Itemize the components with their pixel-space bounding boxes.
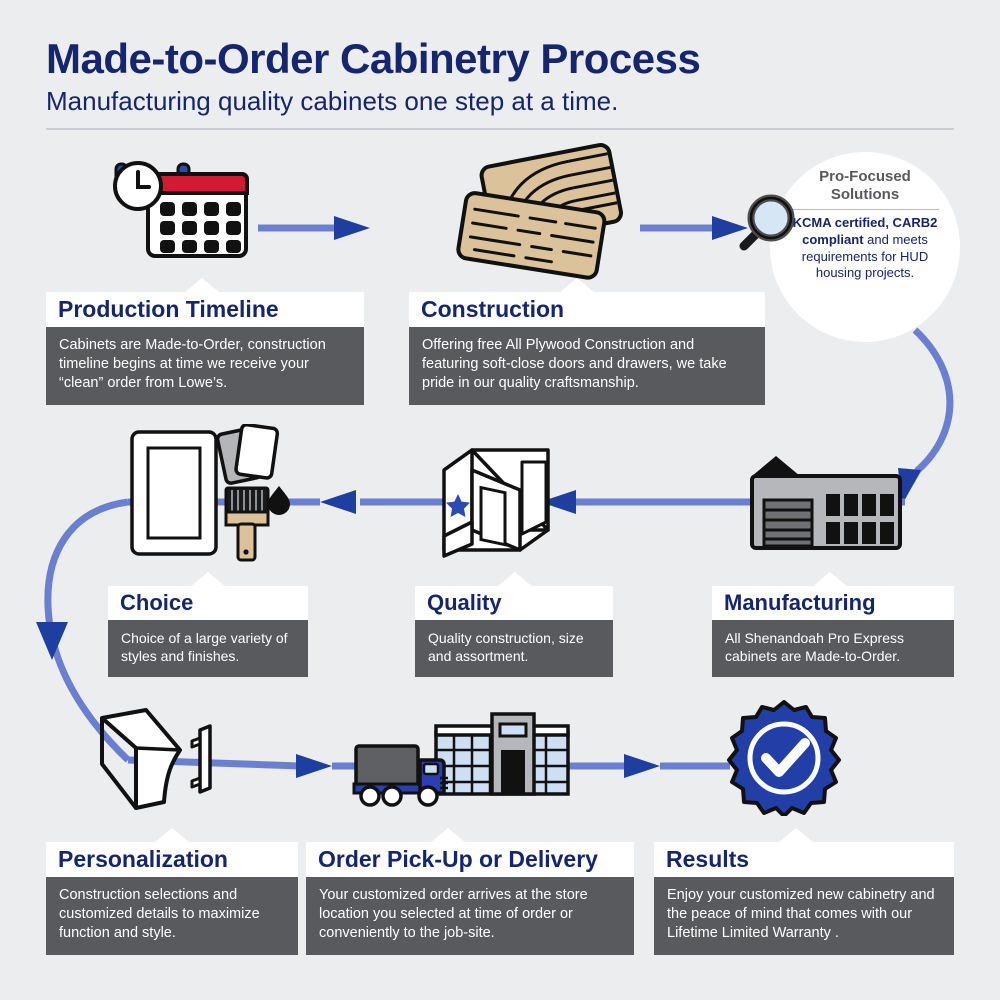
card-title: Construction [409,292,765,327]
badge-text: KCMA certified, CARB2 compliant and meet… [787,215,943,282]
card-title: Results [654,842,954,877]
cabinet-icon [436,444,558,560]
card-title: Personalization [46,842,298,877]
card-notch [154,828,190,843]
badge-divider [791,209,939,210]
card-notch [778,828,814,843]
card-body: Quality construction, size and assortmen… [415,620,613,677]
card-body: Offering free All Plywood Construction a… [409,327,765,405]
card-notch [812,572,848,587]
factory-icon [742,450,922,554]
magnifier-icon [738,190,800,252]
calendar-clock-icon [104,156,264,266]
card-notch [190,572,226,587]
card-body: Choice of a large variety of styles and … [108,620,308,677]
card-title: Order Pick-Up or Delivery [306,842,634,877]
card-construction: Construction Offering free All Plywood C… [409,292,765,405]
card-results: Results Enjoy your customized new cabine… [654,842,954,955]
header: Made-to-Order Cabinetry Process Manufact… [46,36,946,116]
card-body: Construction selections and customized d… [46,877,298,955]
truck-store-icon [352,702,572,812]
card-body: Your customized order arrives at the sto… [306,877,634,955]
card-order-pickup-delivery: Order Pick-Up or Delivery Your customize… [306,842,634,955]
card-title: Quality [415,586,613,620]
card-manufacturing: Manufacturing All Shenandoah Pro Express… [712,586,954,677]
card-personalization: Personalization Construction selections … [46,842,298,955]
wood-planks-icon [443,143,653,283]
card-title: Production Timeline [46,292,364,327]
card-title: Manufacturing [712,586,954,620]
card-notch [497,572,533,587]
page-title: Made-to-Order Cabinetry Process [46,36,946,81]
card-body: Cabinets are Made-to-Order, construction… [46,327,364,405]
card-body: Enjoy your customized new cabinetry and … [654,877,954,955]
badge-title: Pro-Focused Solutions [819,168,911,203]
check-seal-icon [726,700,842,816]
card-notch [184,278,220,293]
door-swatches-brush-icon [126,424,294,564]
card-choice: Choice Choice of a large variety of styl… [108,586,308,677]
infographic-root: Made-to-Order Cabinetry Process Manufact… [0,0,1000,1000]
molding-handle-icon [88,704,248,814]
card-notch [430,828,466,843]
card-production-timeline: Production Timeline Cabinets are Made-to… [46,292,364,405]
page-subtitle: Manufacturing quality cabinets one step … [46,87,946,116]
card-quality: Quality Quality construction, size and a… [415,586,613,677]
header-divider [46,128,954,130]
card-body: All Shenandoah Pro Express cabinets are … [712,620,954,677]
card-title: Choice [108,586,308,620]
